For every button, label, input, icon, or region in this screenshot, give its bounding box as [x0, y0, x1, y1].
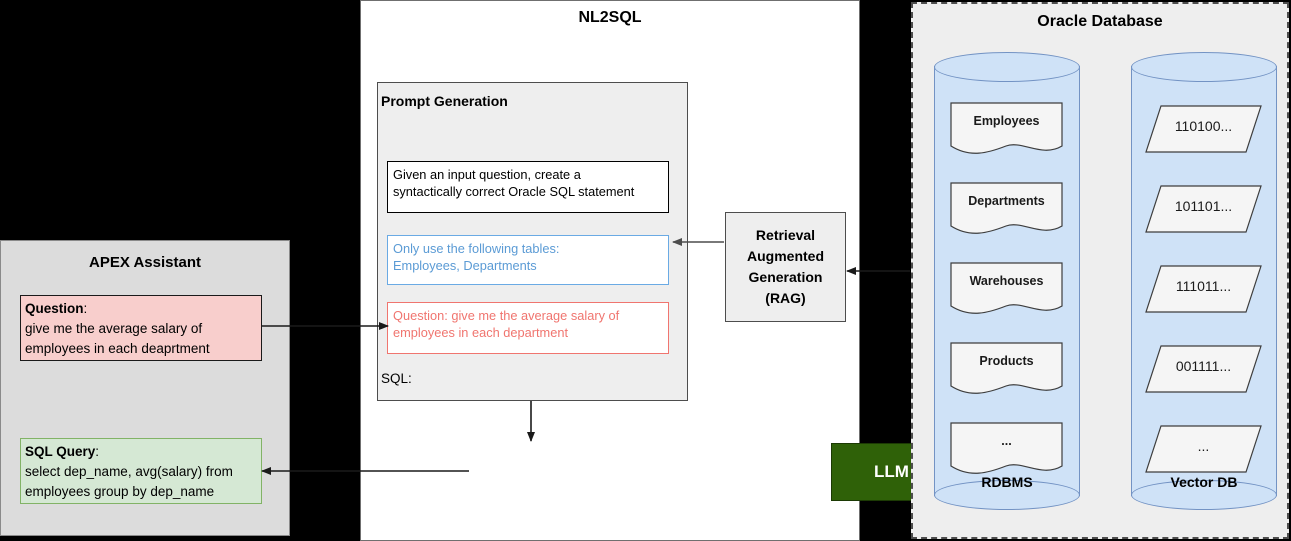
sql-query-box-label: SQL Query [25, 444, 95, 459]
prompt-generation-box: Prompt Generation Given an input questio… [377, 82, 688, 401]
prompt-tables-line1: Only use the following tables: [393, 241, 559, 256]
rag-line4: (RAG) [765, 290, 805, 306]
vector-embedding-shape: 001111... [1145, 345, 1262, 393]
rdbms-table-shape: Warehouses [950, 262, 1063, 318]
vector-db-cylinder-top [1131, 52, 1277, 82]
prompt-question-line: Question: give me the average salary of … [387, 302, 669, 354]
rdbms-item-label: Departments [950, 194, 1063, 208]
question-box-line2: employees in each deaprtment [25, 341, 210, 356]
rdbms-table-shape: Employees [950, 102, 1063, 158]
diagram-canvas: APEX Assistant Question: give me the ave… [0, 0, 1291, 541]
apex-assistant-title: APEX Assistant [1, 254, 289, 271]
vector-embedding-label: 001111... [1145, 358, 1262, 374]
rdbms-cylinder-top [934, 52, 1080, 82]
rag-box: Retrieval Augmented Generation (RAG) [725, 212, 846, 322]
vector-embedding-label: 111011... [1145, 278, 1262, 294]
prompt-question-line2: employees in each department [393, 325, 568, 340]
question-box: Question: give me the average salary of … [20, 295, 262, 361]
vector-embedding-label: 101101... [1145, 198, 1262, 214]
apex-assistant-panel: APEX Assistant Question: give me the ave… [0, 240, 290, 536]
rdbms-item-label: ... [950, 434, 1063, 448]
nl2sql-title: NL2SQL [361, 9, 859, 27]
rdbms-cylinder: Employees Departments Warehouses Product… [934, 52, 1080, 510]
vector-db-label: Vector DB [1131, 474, 1277, 490]
vector-embedding-shape: 110100... [1145, 105, 1262, 153]
vector-embedding-label: 110100... [1145, 118, 1262, 134]
prompt-question-line1: Question: give me the average salary of [393, 308, 619, 323]
vector-embedding-shape: 101101... [1145, 185, 1262, 233]
prompt-instruction-line1: Given an input question, create a [393, 167, 581, 182]
vector-db-cylinder: 110100... 101101... 111011... 001111... [1131, 52, 1277, 510]
llm-label: LLM [874, 462, 909, 482]
question-box-line1: give me the average salary of [25, 321, 202, 336]
rdbms-table-shape: Products [950, 342, 1063, 398]
prompt-instruction-line2: syntactically correct Oracle SQL stateme… [393, 184, 634, 199]
rag-line2: Augmented [747, 248, 824, 264]
sql-query-box-line1: select dep_name, avg(salary) from [25, 464, 233, 479]
rag-line3: Generation [749, 269, 823, 285]
prompt-generation-title: Prompt Generation [381, 93, 508, 109]
prompt-tables-line: Only use the following tables: Employees… [387, 235, 669, 285]
prompt-instruction-line: Given an input question, create a syntac… [387, 161, 669, 213]
question-box-colon: : [84, 301, 88, 316]
vector-embedding-shape: ... [1145, 425, 1262, 473]
rdbms-item-label: Employees [950, 114, 1063, 128]
rdbms-label: RDBMS [934, 474, 1080, 490]
question-box-label: Question [25, 301, 84, 316]
rdbms-table-shape: ... [950, 422, 1063, 478]
rdbms-item-label: Warehouses [950, 274, 1063, 288]
sql-query-box-colon: : [95, 444, 99, 459]
vector-embedding-label: ... [1145, 438, 1262, 454]
prompt-tables-line2: Employees, Departments [393, 258, 537, 273]
rag-line1: Retrieval [756, 227, 815, 243]
prompt-sql-prefix: SQL: [381, 371, 412, 386]
oracle-database-title: Oracle Database [913, 13, 1287, 31]
vector-embedding-shape: 111011... [1145, 265, 1262, 313]
sql-query-box: SQL Query: select dep_name, avg(salary) … [20, 438, 262, 504]
rdbms-item-label: Products [950, 354, 1063, 368]
sql-query-box-line2: employees group by dep_name [25, 484, 214, 499]
rdbms-table-shape: Departments [950, 182, 1063, 238]
